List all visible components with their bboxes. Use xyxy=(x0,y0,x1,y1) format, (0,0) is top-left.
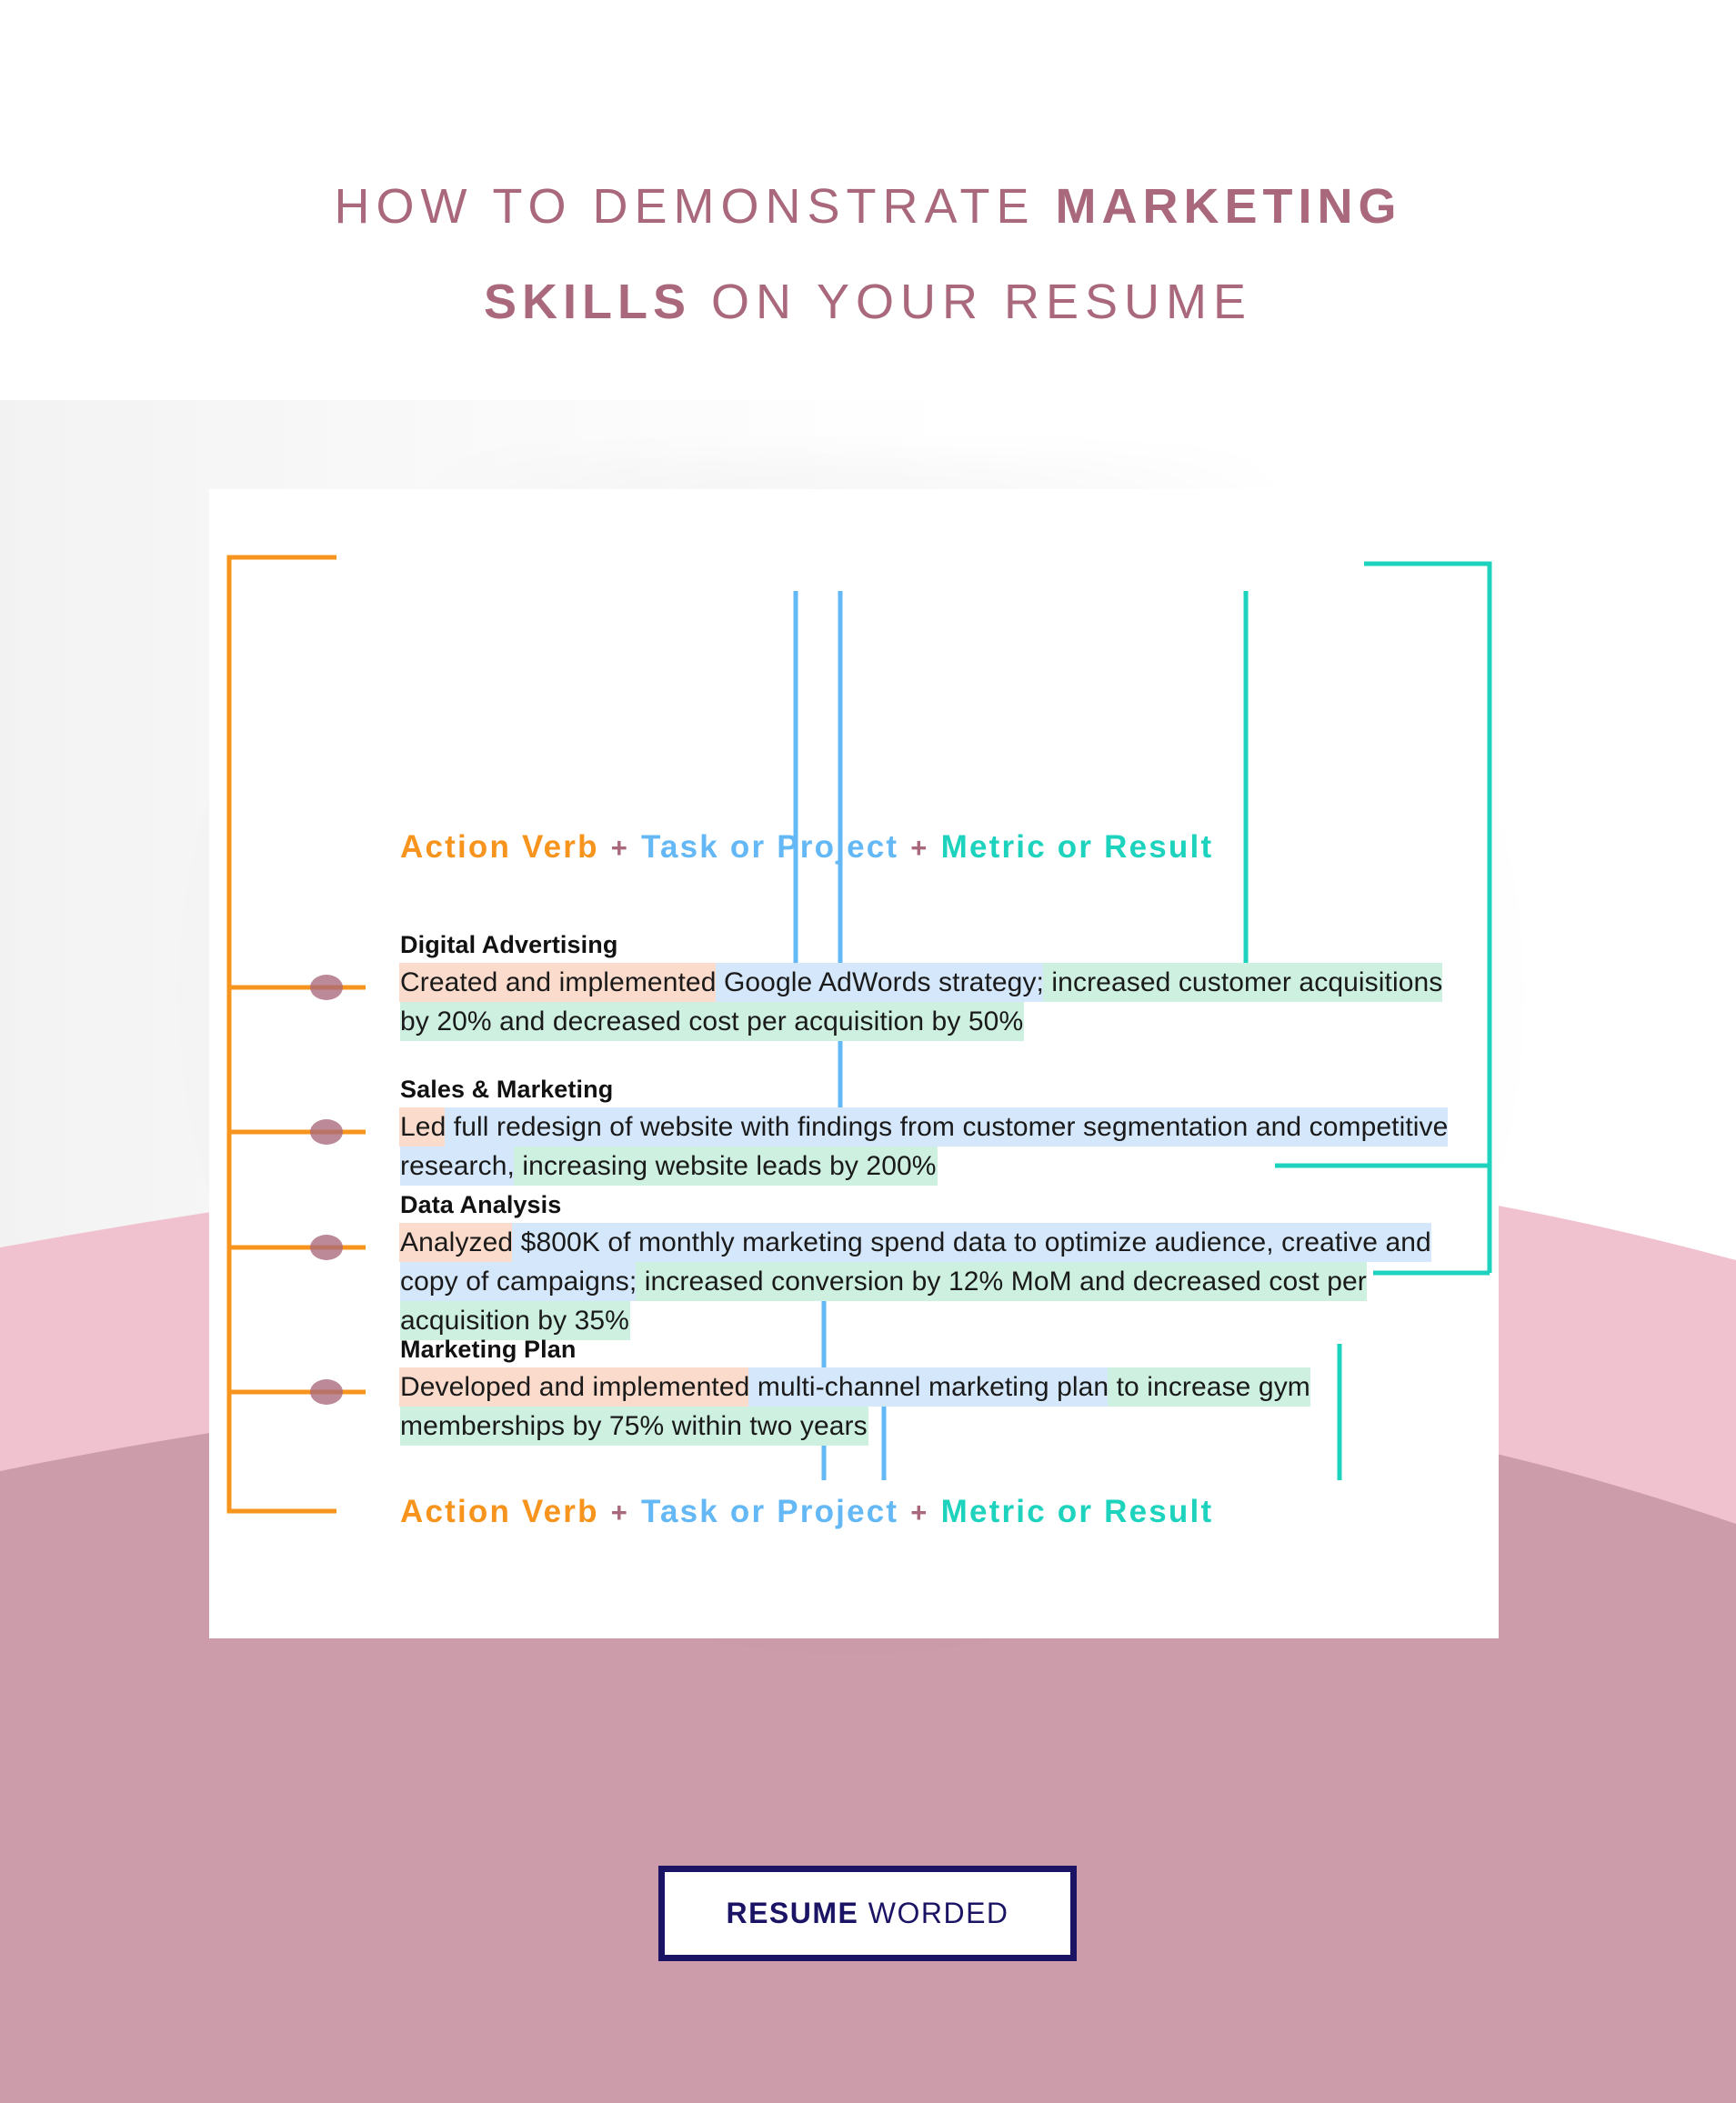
formula-action-verb-label: Action Verb xyxy=(400,829,599,865)
bullet-item: Sales & Marketing Led full redesign of w… xyxy=(400,1076,1473,1186)
bullet-item: Marketing Plan Developed and implemented… xyxy=(400,1336,1473,1446)
resume-worded-logo[interactable]: RESUME WORDED xyxy=(658,1866,1077,1961)
bullet-action-verb: Created and implemented xyxy=(400,964,717,1001)
bullet-item: Data Analysis Analyzed $800K of monthly … xyxy=(400,1191,1473,1340)
bullet-text: Created and implemented Google AdWords s… xyxy=(400,963,1473,1041)
title-line-1-bold: MARKETING xyxy=(1056,179,1402,234)
bullet-heading: Marketing Plan xyxy=(400,1336,1473,1364)
formula-action-verb-label: Action Verb xyxy=(400,1494,599,1529)
title-line-1: HOW TO DEMONSTRATE MARKETING xyxy=(0,159,1736,255)
bullet-item: Digital Advertising Created and implemen… xyxy=(400,931,1473,1041)
logo-text: RESUME WORDED xyxy=(726,1897,1008,1930)
formula-plus-2: + xyxy=(898,832,940,864)
title-line-2-plain: ON YOUR RESUME xyxy=(691,275,1252,329)
connector-lines xyxy=(209,489,1499,1638)
logo-text-light: WORDED xyxy=(858,1897,1008,1929)
title-line-2: SKILLS ON YOUR RESUME xyxy=(0,255,1736,350)
formula-task-label: Task or Project xyxy=(641,829,898,865)
bullet-task: multi-channel marketing plan xyxy=(749,1368,1109,1406)
formula-footer: Action Verb+Task or Project+Metric or Re… xyxy=(400,1494,1213,1530)
bullet-text: Developed and implemented multi-channel … xyxy=(400,1367,1473,1446)
formula-task-label: Task or Project xyxy=(641,1494,898,1529)
logo-text-bold: RESUME xyxy=(726,1897,858,1929)
bullet-markers xyxy=(310,975,343,1405)
title-line-2-bold: SKILLS xyxy=(484,275,691,329)
bullet-text: Analyzed $800K of monthly marketing spen… xyxy=(400,1223,1473,1340)
bullet-heading: Data Analysis xyxy=(400,1191,1473,1219)
resume-bullet-card: Action Verb+Task or Project+Metric or Re… xyxy=(209,489,1499,1638)
bullet-action-verb: Analyzed xyxy=(400,1224,513,1261)
formula-metric-label: Metric or Result xyxy=(941,1494,1214,1529)
orange-connectors xyxy=(229,557,366,1511)
infographic-page: HOW TO DEMONSTRATE MARKETING SKILLS ON Y… xyxy=(0,0,1736,2103)
formula-metric-label: Metric or Result xyxy=(941,829,1214,865)
bullet-task: Google AdWords strategy; xyxy=(717,964,1044,1001)
bullet-action-verb: Developed and implemented xyxy=(400,1368,749,1406)
formula-plus-1: + xyxy=(599,1497,641,1528)
title-line-1-plain: HOW TO DEMONSTRATE xyxy=(334,179,1055,234)
formula-header: Action Verb+Task or Project+Metric or Re… xyxy=(400,829,1213,866)
formula-plus-1: + xyxy=(599,832,641,864)
bullet-heading: Digital Advertising xyxy=(400,931,1473,959)
bullet-metric: increasing website leads by 200% xyxy=(515,1147,937,1185)
page-title: HOW TO DEMONSTRATE MARKETING SKILLS ON Y… xyxy=(0,159,1736,350)
bullet-heading: Sales & Marketing xyxy=(400,1076,1473,1104)
bullet-text: Led full redesign of website with findin… xyxy=(400,1107,1473,1186)
formula-plus-2: + xyxy=(898,1497,940,1528)
bullet-action-verb: Led xyxy=(400,1108,446,1146)
